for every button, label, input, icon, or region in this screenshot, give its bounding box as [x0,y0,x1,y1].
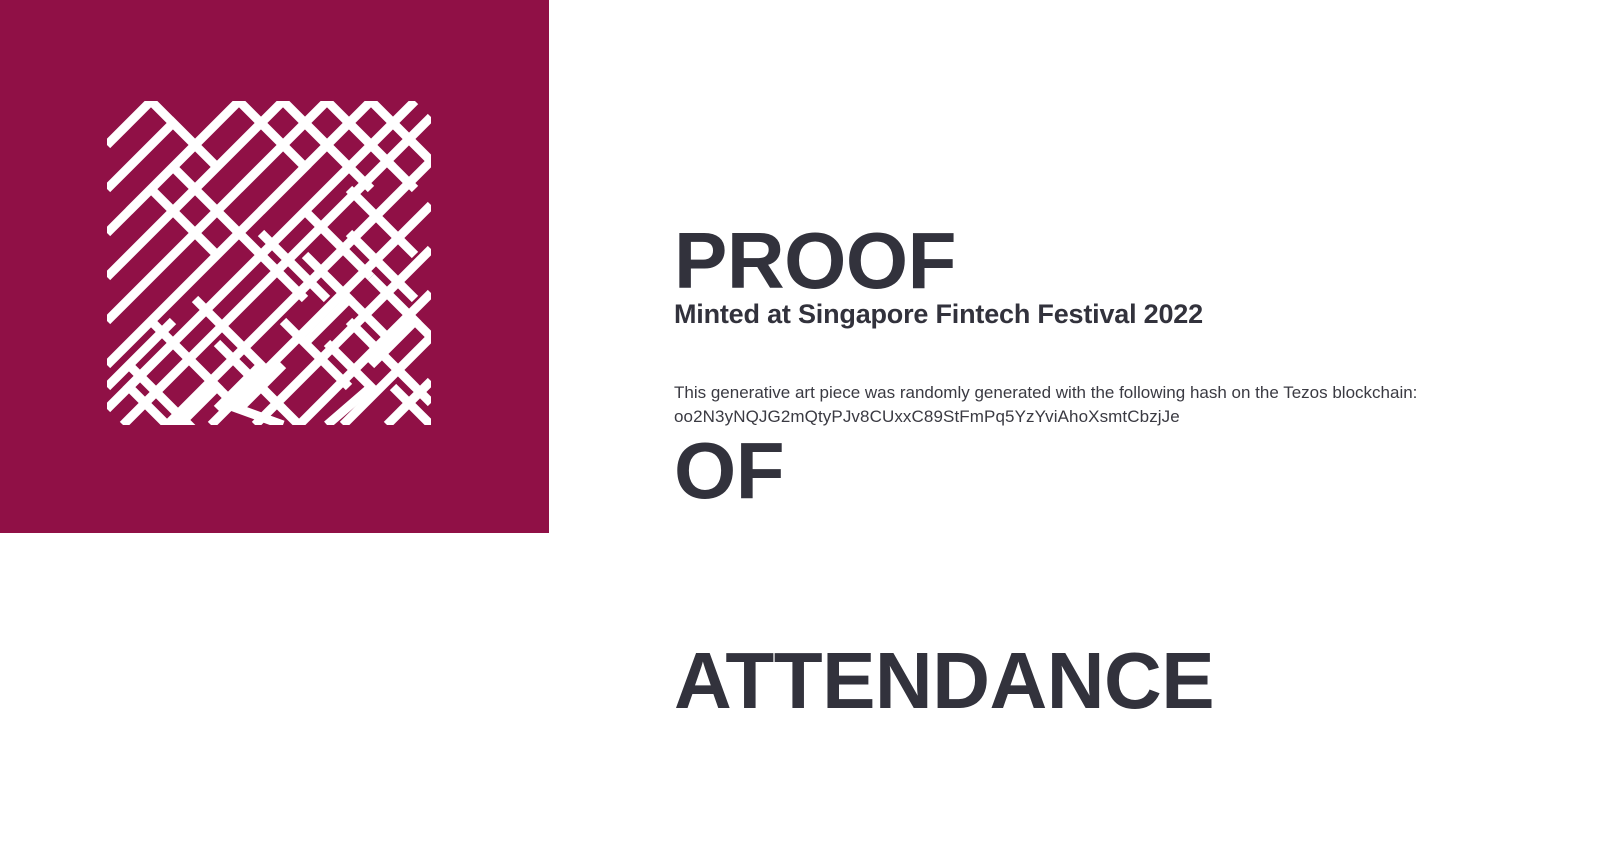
generative-maze-art [107,101,431,425]
proof-of-attendance-card: PROOF OF ATTENDANCE Minted at Singapore … [0,0,1600,533]
blockchain-hash: oo2N3yNQJG2mQtyPJv8CUxxC89StFmPq5YzYviAh… [674,405,1534,429]
artwork-panel [0,0,549,533]
page-title: PROOF OF ATTENDANCE [674,86,1214,856]
title-line-2: OF [674,436,1214,506]
event-subtitle: Minted at Singapore Fintech Festival 202… [674,298,1203,331]
description-block: This generative art piece was randomly g… [674,381,1534,429]
title-line-1: PROOF [674,226,1214,296]
title-line-3: ATTENDANCE [674,646,1214,716]
description-text: This generative art piece was randomly g… [674,381,1534,405]
content-panel: PROOF OF ATTENDANCE Minted at Singapore … [549,0,1600,533]
